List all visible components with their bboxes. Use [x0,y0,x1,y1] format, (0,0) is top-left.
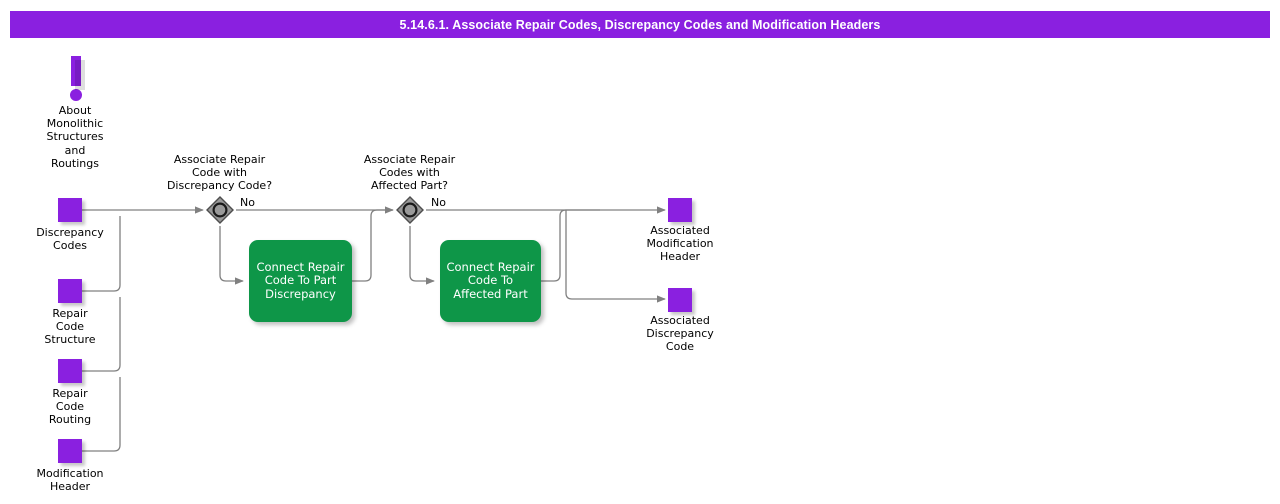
data-object-label-repair-code-structure: Repair Code Structure [10,307,130,347]
edge-gateway-2-to-task-2 [410,226,434,281]
edge-label-gateway-1-no: No [240,196,255,209]
edge-gateway-1-to-task-1 [220,226,243,281]
data-object-repair-code-structure[interactable] [58,279,82,303]
task-label-connect-repair-code-to-affected-part: Connect Repair Code To Affected Part [441,261,539,302]
data-object-modification-header[interactable] [58,439,82,463]
gateway-label-affected-part: Associate Repair Codes with Affected Par… [343,153,476,193]
data-object-discrepancy-codes[interactable] [58,198,82,222]
gateway-discrepancy-code[interactable] [205,195,235,225]
data-object-associated-discrepancy-code[interactable] [668,288,692,312]
edge-task-2-to-outputs [541,210,600,281]
data-object-associated-modification-header[interactable] [668,198,692,222]
data-object-label-associated-modification-header: Associated Modification Header [620,224,740,264]
data-object-label-repair-code-routing: Repair Code Routing [10,387,130,427]
edge-task-1-to-gateway-2 [352,210,393,281]
task-connect-repair-code-to-part-discrepancy[interactable]: Connect Repair Code To Part Discrepancy [249,240,352,322]
gateway-affected-part[interactable] [395,195,425,225]
gateway-label-discrepancy-code: Associate Repair Code with Discrepancy C… [153,153,286,193]
exclamation-icon [62,56,92,102]
data-object-label-modification-header: Modification Header [10,467,130,493]
task-label-connect-repair-code-to-part-discrepancy: Connect Repair Code To Part Discrepancy [251,261,349,302]
data-object-label-discrepancy-codes: Discrepancy Codes [10,226,130,252]
data-object-label-associated-discrepancy-code: Associated Discrepancy Code [620,314,740,354]
annotation-label: About Monolithic Structures and Routings [15,104,135,170]
diagram-canvas: 5.14.6.1. Associate Repair Codes, Discre… [0,0,1280,504]
data-object-repair-code-routing[interactable] [58,359,82,383]
edge-label-gateway-2-no: No [431,196,446,209]
task-connect-repair-code-to-affected-part[interactable]: Connect Repair Code To Affected Part [440,240,541,322]
